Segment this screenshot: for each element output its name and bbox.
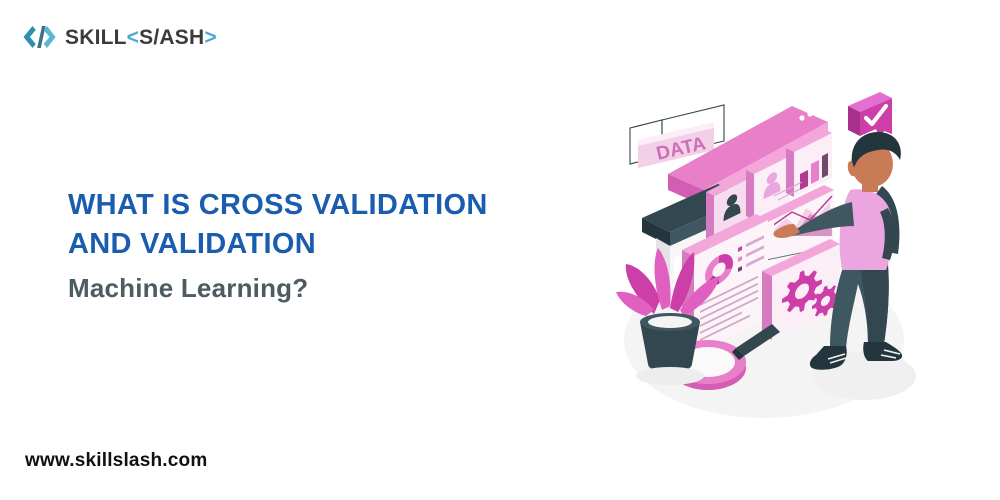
code-bracket-icon — [22, 22, 56, 52]
headline-block: WHAT IS CROSS VALIDATION AND VALIDATION … — [68, 186, 588, 308]
brand-logo[interactable]: SKILL<S/ASH> — [22, 22, 217, 52]
brand-name-part2: S/ASH — [139, 26, 204, 49]
checkmark-badge — [848, 92, 892, 140]
headline-subtitle: Machine Learning? — [68, 269, 588, 308]
brand-name-part1: SKILL — [65, 26, 127, 49]
headline-line-2: AND VALIDATION — [68, 225, 588, 264]
illustration-svg: DATA — [596, 78, 936, 418]
bar-2 — [811, 160, 819, 184]
brand-name: SKILL<S/ASH> — [65, 27, 217, 48]
isometric-illustration: DATA — [596, 78, 936, 418]
footer-website-url[interactable]: www.skillslash.com — [25, 450, 207, 472]
brand-bracket-open: < — [127, 26, 139, 49]
bar-3 — [822, 153, 828, 178]
headline-line-1: WHAT IS CROSS VALIDATION — [68, 186, 588, 225]
brand-bracket-close: > — [204, 26, 216, 49]
poster-canvas: SKILL<S/ASH> WHAT IS CROSS VALIDATION AN… — [0, 0, 1000, 500]
